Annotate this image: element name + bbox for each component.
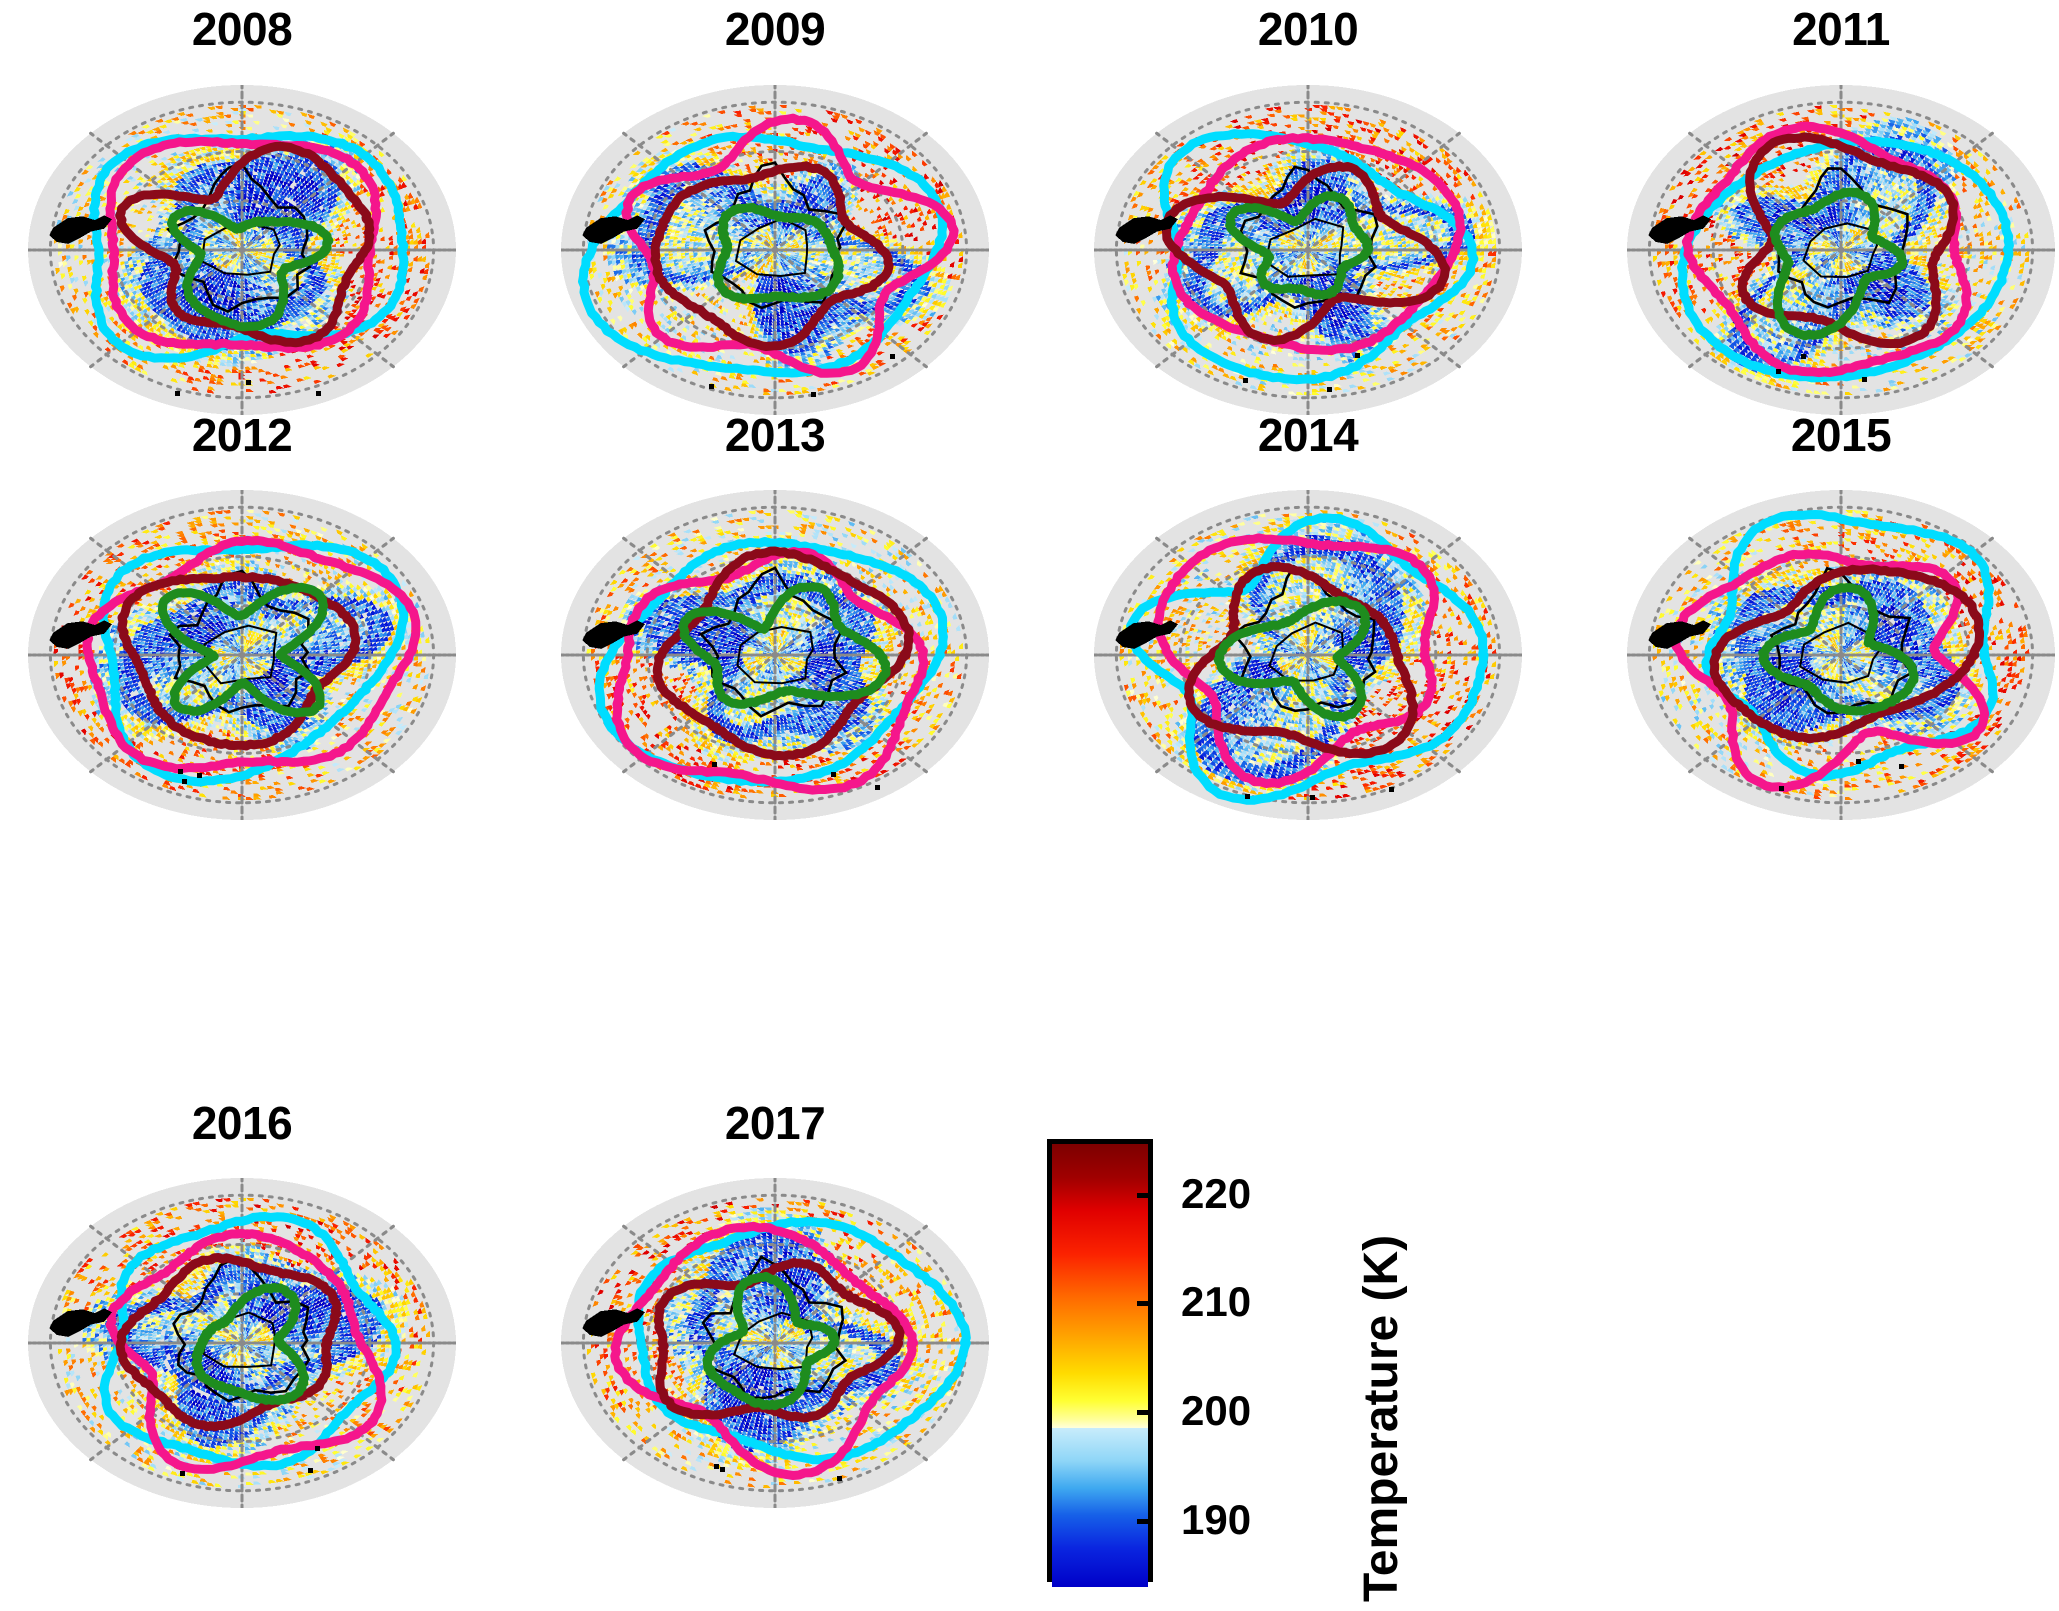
colorbar-tick-190: [1137, 1519, 1153, 1524]
colorbar-tick-200: [1137, 1410, 1153, 1415]
colorbar-tick-210: [1137, 1301, 1153, 1306]
colorbar-tick-label-210: 210: [1181, 1281, 1251, 1323]
colorbar-axis-label: Temperature (K): [1358, 1235, 1406, 1602]
colorbar-frame[interactable]: [1047, 1139, 1153, 1582]
colorbar-tick-label-190: 190: [1181, 1499, 1251, 1541]
colorbar: 220210200190Temperature (K): [0, 0, 2059, 1611]
colorbar-tick-label-200: 200: [1181, 1390, 1251, 1432]
colorbar-gradient: [1052, 1144, 1148, 1577]
colorbar-tick-220: [1137, 1193, 1153, 1198]
colorbar-tick-label-220: 220: [1181, 1173, 1251, 1215]
figure-canvas: 2008200920102011201220132014201520162017…: [0, 0, 2059, 1611]
colorbar-cool-ramp: [1052, 1428, 1148, 1587]
colorbar-warm-ramp: [1052, 1144, 1148, 1428]
